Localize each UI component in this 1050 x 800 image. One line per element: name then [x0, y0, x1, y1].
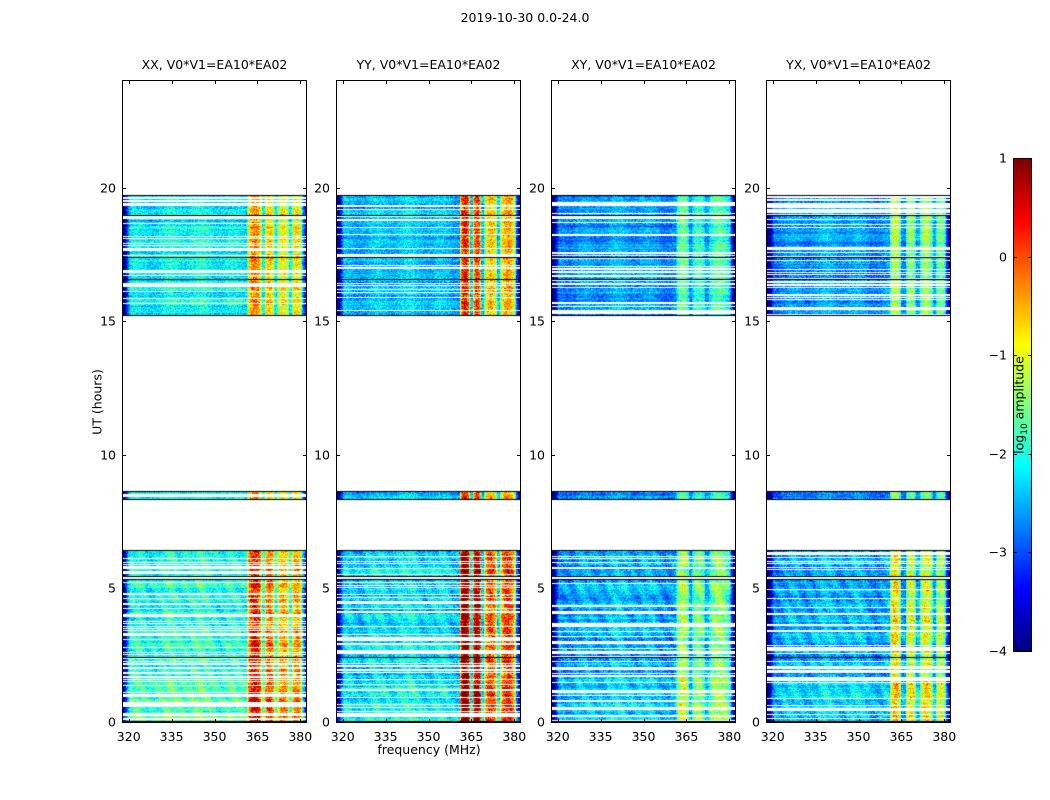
panel-title-yy: YY, V0*V1=EA10*EA02: [357, 57, 501, 72]
y-tick-mark: [551, 588, 555, 589]
colorbar-tick-mark: [1013, 158, 1017, 159]
x-tick-mark: [215, 719, 216, 723]
y-tick-mark: [766, 588, 770, 589]
y-tick-mark: [766, 455, 770, 456]
x-tick-mark: [773, 80, 774, 84]
y-tick-mark: [303, 455, 307, 456]
y-tick-label: 15: [744, 314, 760, 329]
waterfall-image-xx: [123, 81, 306, 722]
y-tick-label: 5: [752, 581, 760, 596]
y-tick-mark: [122, 588, 126, 589]
colorbar-tick-mark: [1013, 552, 1017, 553]
x-tick-mark: [429, 719, 430, 723]
y-tick-mark: [122, 188, 126, 189]
x-tick-mark: [601, 719, 602, 723]
y-tick-label: 10: [744, 447, 760, 462]
colorbar-tick-mark: [1013, 454, 1017, 455]
y-tick-mark: [732, 722, 736, 723]
y-tick-mark: [732, 588, 736, 589]
y-tick-label: 0: [108, 715, 116, 730]
y-axis-label: UT (hours): [89, 369, 104, 435]
x-tick-mark: [901, 80, 902, 84]
panel-xx: XX, V0*V1=EA10*EA02 32033535036538005101…: [122, 80, 307, 723]
y-tick-label: 20: [314, 180, 330, 195]
x-tick-mark: [471, 719, 472, 723]
colorbar-label-prefix: log: [1012, 435, 1027, 454]
y-tick-mark: [551, 455, 555, 456]
y-tick-mark: [766, 722, 770, 723]
figure-suptitle: 2019-10-30 0.0-24.0: [0, 10, 1050, 25]
colorbar-label-suffix: amplitude: [1012, 356, 1027, 423]
x-tick-mark: [215, 80, 216, 84]
y-tick-mark: [551, 188, 555, 189]
y-tick-mark: [732, 455, 736, 456]
x-tick-mark: [729, 80, 730, 84]
x-tick-mark: [944, 719, 945, 723]
y-tick-mark: [766, 188, 770, 189]
colorbar-tick-mark: [1013, 651, 1017, 652]
y-tick-mark: [732, 321, 736, 322]
y-tick-mark: [336, 455, 340, 456]
x-tick-mark: [257, 719, 258, 723]
x-tick-mark: [514, 719, 515, 723]
y-tick-mark: [551, 722, 555, 723]
y-tick-mark: [551, 321, 555, 322]
x-tick-mark: [257, 80, 258, 84]
colorbar-tick-label: −1: [989, 348, 1007, 363]
y-tick-mark: [336, 722, 340, 723]
y-tick-label: 10: [100, 447, 116, 462]
waterfall-image-yx: [767, 81, 950, 722]
panel-title-yx: YX, V0*V1=EA10*EA02: [786, 57, 931, 72]
y-tick-mark: [122, 722, 126, 723]
x-tick-mark: [429, 80, 430, 84]
x-tick-mark: [386, 719, 387, 723]
x-tick-mark: [386, 80, 387, 84]
colorbar-tick-label: −2: [989, 446, 1007, 461]
y-tick-mark: [303, 321, 307, 322]
x-tick-mark: [514, 80, 515, 84]
waterfall-image-yy: [337, 81, 520, 722]
colorbar-label-wrap: log10 amplitude: [972, 158, 973, 652]
x-tick-mark: [129, 719, 130, 723]
x-tick-mark: [644, 719, 645, 723]
panel-title-xx: XX, V0*V1=EA10*EA02: [142, 57, 288, 72]
x-tick-mark: [944, 80, 945, 84]
y-tick-mark: [947, 722, 951, 723]
y-tick-label: 0: [537, 715, 545, 730]
x-tick-mark: [901, 719, 902, 723]
x-tick-label: 380: [932, 729, 956, 744]
x-tick-mark: [129, 80, 130, 84]
panel-yx: YX, V0*V1=EA10*EA02 32033535036538005101…: [766, 80, 951, 723]
x-tick-mark: [558, 80, 559, 84]
x-tick-mark: [859, 719, 860, 723]
y-tick-label: 20: [529, 180, 545, 195]
x-tick-mark: [343, 719, 344, 723]
y-tick-mark: [303, 588, 307, 589]
colorbar-tick-label: 1: [999, 151, 1007, 166]
y-tick-mark: [947, 321, 951, 322]
x-tick-mark: [816, 80, 817, 84]
x-tick-mark: [300, 80, 301, 84]
y-axis-label-wrap: UT (hours): [92, 80, 93, 723]
y-tick-label: 5: [108, 581, 116, 596]
y-tick-label: 10: [314, 447, 330, 462]
colorbar-tick-mark: [1013, 257, 1017, 258]
figure-canvas: 2019-10-30 0.0-24.0 XX, V0*V1=EA10*EA02 …: [0, 0, 1050, 800]
y-tick-mark: [517, 722, 521, 723]
x-tick-mark: [859, 80, 860, 84]
y-tick-mark: [122, 455, 126, 456]
y-tick-mark: [303, 722, 307, 723]
colorbar-tick-mark: [1028, 651, 1032, 652]
y-tick-label: 20: [744, 180, 760, 195]
y-tick-label: 15: [100, 314, 116, 329]
colorbar-label-sub: 10: [1020, 423, 1030, 434]
y-tick-mark: [336, 321, 340, 322]
x-tick-mark: [558, 719, 559, 723]
y-tick-mark: [947, 588, 951, 589]
y-tick-mark: [947, 455, 951, 456]
x-tick-mark: [172, 719, 173, 723]
x-tick-mark: [773, 719, 774, 723]
panel-yy: YY, V0*V1=EA10*EA02 32033535036538005101…: [336, 80, 521, 723]
y-tick-mark: [517, 588, 521, 589]
y-tick-mark: [336, 188, 340, 189]
y-tick-label: 15: [529, 314, 545, 329]
y-tick-mark: [122, 321, 126, 322]
y-tick-mark: [336, 588, 340, 589]
y-tick-mark: [303, 188, 307, 189]
x-tick-label: 335: [804, 729, 828, 744]
colorbar-tick-label: −3: [989, 545, 1007, 560]
x-tick-mark: [471, 80, 472, 84]
y-tick-mark: [947, 188, 951, 189]
y-tick-label: 0: [752, 715, 760, 730]
x-tick-mark: [686, 80, 687, 84]
colorbar-label: log10 amplitude: [1012, 356, 1031, 454]
y-tick-mark: [517, 455, 521, 456]
x-tick-label: 350: [847, 729, 871, 744]
y-tick-label: 10: [529, 447, 545, 462]
y-tick-mark: [766, 321, 770, 322]
x-tick-mark: [686, 719, 687, 723]
x-tick-label: 365: [889, 729, 913, 744]
x-tick-mark: [816, 719, 817, 723]
colorbar-tick-label: −4: [989, 644, 1007, 659]
colorbar-tick-mark: [1028, 454, 1032, 455]
x-tick-mark: [601, 80, 602, 84]
y-tick-mark: [732, 188, 736, 189]
colorbar-tick-mark: [1028, 552, 1032, 553]
colorbar-tick-mark: [1028, 158, 1032, 159]
waterfall-image-xy: [552, 81, 735, 722]
x-tick-label: 320: [761, 729, 785, 744]
y-tick-mark: [517, 321, 521, 322]
x-tick-mark: [300, 719, 301, 723]
y-tick-label: 20: [100, 180, 116, 195]
y-tick-label: 15: [314, 314, 330, 329]
y-tick-mark: [517, 188, 521, 189]
colorbar-tick-mark: [1028, 257, 1032, 258]
x-axis-label: frequency (MHz): [122, 742, 736, 757]
y-tick-label: 5: [322, 581, 330, 596]
y-tick-label: 0: [322, 715, 330, 730]
x-tick-mark: [343, 80, 344, 84]
x-tick-mark: [729, 719, 730, 723]
panel-title-xy: XY, V0*V1=EA10*EA02: [571, 57, 716, 72]
colorbar-tick-label: 0: [999, 249, 1007, 264]
y-tick-label: 5: [537, 581, 545, 596]
x-tick-mark: [644, 80, 645, 84]
panel-xy: XY, V0*V1=EA10*EA02 32033535036538005101…: [551, 80, 736, 723]
x-tick-mark: [172, 80, 173, 84]
